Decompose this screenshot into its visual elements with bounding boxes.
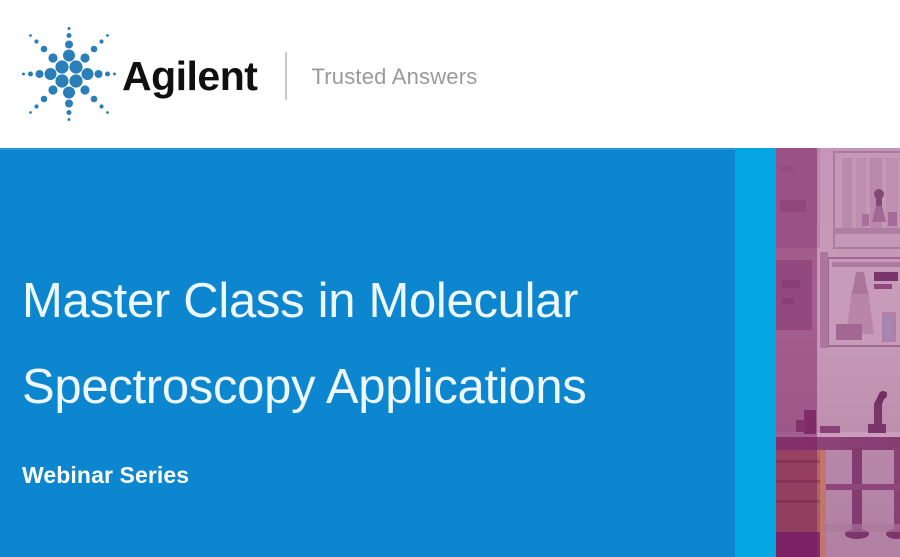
logo-divider (285, 52, 287, 100)
brand-tagline: Trusted Answers (311, 66, 477, 88)
page-title-line-2: Spectroscopy Applications (22, 344, 722, 430)
laboratory-photo (776, 148, 900, 557)
webinar-title-slide: Agilent Trusted Answers Master Class in … (0, 0, 900, 557)
accent-stripe (735, 148, 776, 557)
brand-wordmark: Agilent (122, 56, 257, 97)
hero-title-block: Master Class in Molecular Spectroscopy A… (22, 258, 722, 430)
page-title-line-1: Master Class in Molecular (22, 258, 722, 344)
agilent-logo-lockup[interactable]: Agilent Trusted Answers (18, 22, 477, 126)
hero-band: Master Class in Molecular Spectroscopy A… (0, 148, 900, 557)
page-subtitle: Webinar Series (22, 462, 189, 489)
agilent-starburst-logo-icon (18, 23, 120, 125)
brand-header: Agilent Trusted Answers (0, 0, 900, 148)
